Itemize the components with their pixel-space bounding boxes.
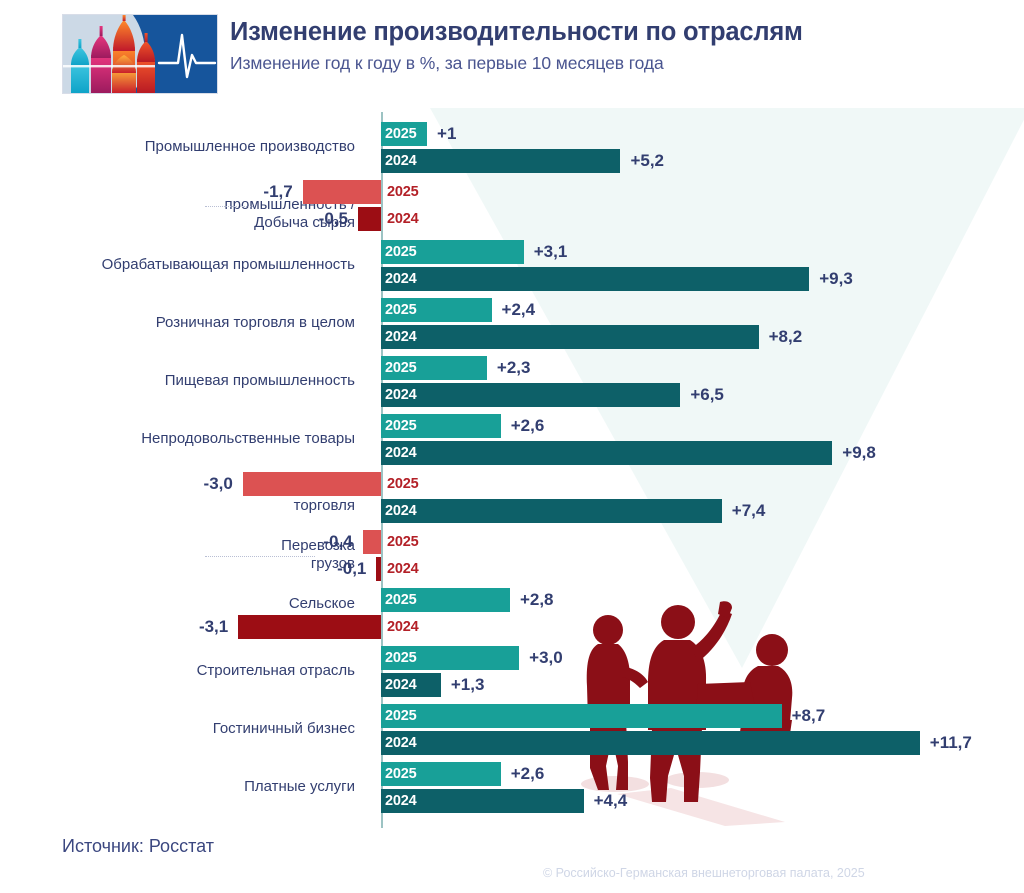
bar-2024 — [381, 149, 620, 173]
bar-2024 — [381, 499, 722, 523]
bar-year-tag: 2024 — [385, 499, 416, 523]
bar-value-label: -3,1 — [0, 615, 228, 639]
page-subtitle: Изменение год к году в %, за первые 10 м… — [230, 53, 803, 74]
bar-2024 — [381, 441, 832, 465]
chart-row: Пищевая промышленность2025+2,32024+6,5 — [0, 356, 1024, 407]
bar-2025 — [381, 704, 782, 728]
chart-row: Оптовая торговля2025-3,02024+7,4 — [0, 472, 1024, 523]
source-note: Источник: Росстат — [62, 836, 214, 857]
category-label: Непродовольственные товары — [55, 430, 355, 448]
category-label: Пищевая промышленность — [55, 372, 355, 390]
bar-year-tag: 2025 — [387, 180, 418, 204]
bar-2024 — [381, 383, 680, 407]
bar-value-label: +3,0 — [529, 646, 563, 670]
bar-value-label: +5,2 — [630, 149, 664, 173]
category-label: Гостиничный бизнес — [55, 720, 355, 738]
bar-value-label: +2,3 — [497, 356, 531, 380]
bar-year-tag: 2024 — [385, 441, 416, 465]
bar-value-label: +4,4 — [594, 789, 628, 813]
chart-row: Обрабатывающая промышленность2025+3,1202… — [0, 240, 1024, 291]
page-title: Изменение производительности по отраслям — [230, 18, 803, 47]
bar-value-label: +8,7 — [792, 704, 826, 728]
bar-year-tag: 2024 — [387, 207, 418, 231]
bar-value-label: +1,3 — [451, 673, 485, 697]
chart-row: Строительная отрасль2025+3,02024+1,3 — [0, 646, 1024, 697]
bar-2025 — [303, 180, 381, 204]
bar-year-tag: 2025 — [385, 414, 416, 438]
bar-value-label: -0,1 — [0, 557, 366, 581]
bar-value-label: +9,3 — [819, 267, 853, 291]
bar-year-tag: 2025 — [385, 240, 416, 264]
bar-2025 — [243, 472, 381, 496]
bar-2024 — [381, 325, 759, 349]
chart-row: Розничная торговля в целом2025+2,42024+8… — [0, 298, 1024, 349]
header: Изменение производительности по отраслям… — [0, 0, 1024, 104]
bar-value-label: -3,0 — [0, 472, 233, 496]
bar-year-tag: 2024 — [385, 325, 416, 349]
bar-year-tag: 2024 — [387, 557, 418, 581]
bar-value-label: -0,5 — [0, 207, 348, 231]
bar-value-label: +11,7 — [930, 731, 972, 755]
bar-year-tag: 2024 — [385, 731, 416, 755]
category-label: Промышленное производство — [55, 138, 355, 156]
bar-year-tag: 2024 — [387, 615, 418, 639]
category-label: Строительная отрасль — [55, 662, 355, 680]
chart-row: Сельское хозяйство2025+2,82024-3,1 — [0, 588, 1024, 639]
bar-year-tag: 2025 — [385, 298, 416, 322]
bar-2025 — [363, 530, 381, 554]
bar-2024 — [376, 557, 381, 581]
infographic-canvas: Изменение производительности по отраслям… — [0, 0, 1024, 893]
bar-value-label: +6,5 — [690, 383, 724, 407]
bar-value-label: +1 — [437, 122, 456, 146]
chart-row: Горная промышленность / Добыча сырья2025… — [0, 180, 1024, 231]
bar-value-label: +2,6 — [511, 762, 545, 786]
bar-year-tag: 2025 — [387, 530, 418, 554]
chart-row: Непродовольственные товары2025+2,62024+9… — [0, 414, 1024, 465]
bar-2024 — [358, 207, 381, 231]
bar-year-tag: 2025 — [385, 356, 416, 380]
category-label: Розничная торговля в целом — [55, 314, 355, 332]
bar-2024 — [238, 615, 381, 639]
ahk-russia-logo — [62, 14, 218, 94]
bar-2024 — [381, 267, 809, 291]
bar-value-label: +2,8 — [520, 588, 554, 612]
copyright-note: © Российско-Германская внешнеторговая па… — [543, 866, 865, 880]
bar-value-label: -1,7 — [0, 180, 293, 204]
bar-year-tag: 2024 — [385, 383, 416, 407]
bar-value-label: +9,8 — [842, 441, 876, 465]
bar-year-tag: 2025 — [387, 472, 418, 496]
bar-year-tag: 2025 — [385, 762, 416, 786]
bar-value-label: +2,6 — [511, 414, 545, 438]
bar-2024 — [381, 731, 920, 755]
category-label: Обрабатывающая промышленность — [55, 256, 355, 274]
chart-row: Гостиничный бизнес2025+8,72024+11,7 — [0, 704, 1024, 755]
bar-value-label: +3,1 — [534, 240, 568, 264]
bar-year-tag: 2024 — [385, 673, 416, 697]
category-label: Платные услуги — [55, 778, 355, 796]
bar-year-tag: 2024 — [385, 149, 416, 173]
chart-row: Перевозка грузов2025-0,42024-0,1 — [0, 530, 1024, 581]
bar-year-tag: 2025 — [385, 588, 416, 612]
bar-year-tag: 2025 — [385, 122, 416, 146]
bar-value-label: +2,4 — [502, 298, 536, 322]
title-block: Изменение производительности по отраслям… — [230, 18, 803, 74]
bar-value-label: -0,4 — [0, 530, 353, 554]
bar-year-tag: 2025 — [385, 704, 416, 728]
bar-year-tag: 2024 — [385, 267, 416, 291]
bar-year-tag: 2024 — [385, 789, 416, 813]
bar-value-label: +7,4 — [732, 499, 766, 523]
chart-row: Платные услуги2025+2,62024+4,4 — [0, 762, 1024, 813]
chart-row: Промышленное производство2025+12024+5,2 — [0, 122, 1024, 173]
bar-value-label: +8,2 — [769, 325, 803, 349]
bar-year-tag: 2025 — [385, 646, 416, 670]
bar-chart: Промышленное производство2025+12024+5,2Г… — [0, 104, 1024, 834]
